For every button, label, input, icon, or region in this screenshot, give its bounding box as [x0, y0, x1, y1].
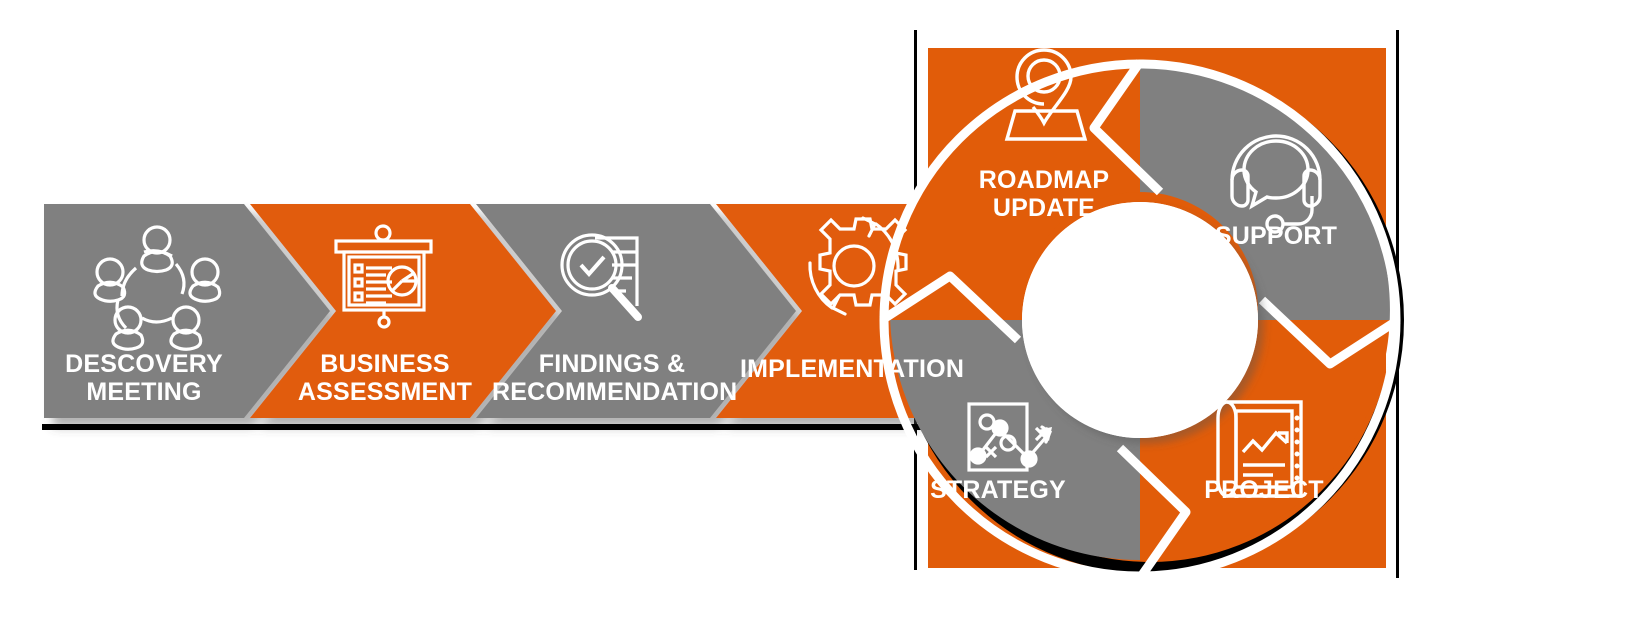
diagram-canvas: [0, 0, 1636, 630]
process-cycle-diagram: DESCOVERY MEETING BUSINESS ASSESSMENT FI…: [0, 0, 1636, 630]
process-baseline-rule: [42, 424, 922, 430]
